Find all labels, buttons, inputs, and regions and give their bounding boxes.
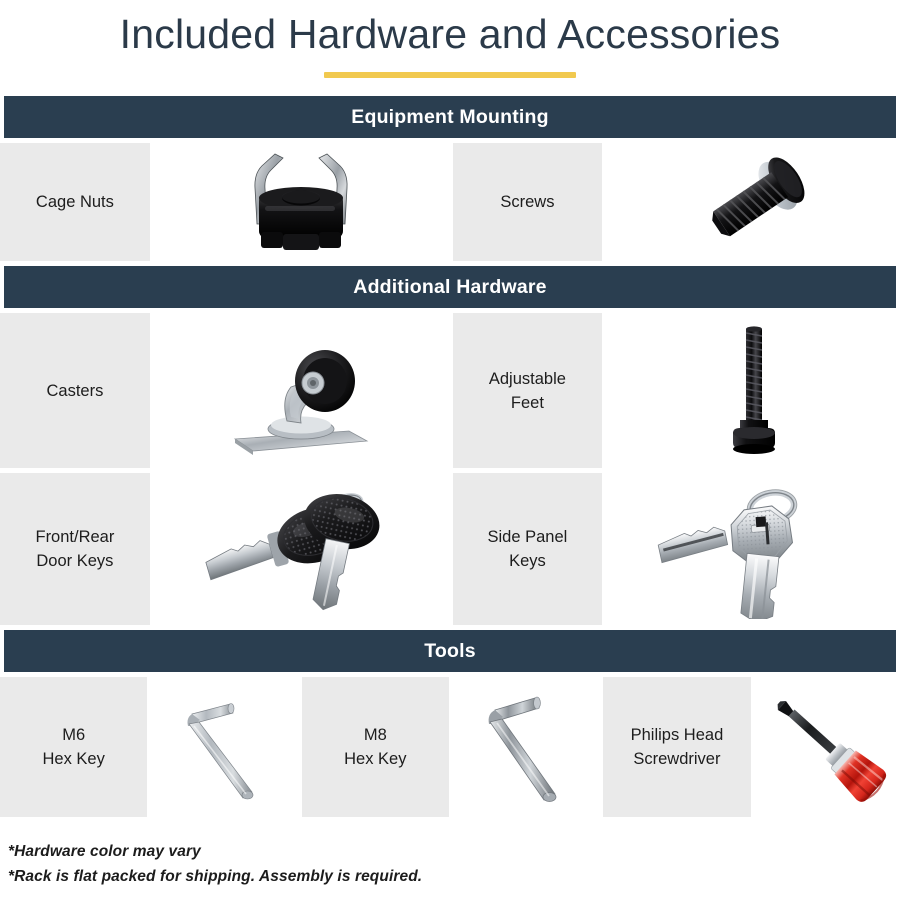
cell-image-m6-hex-key: [152, 677, 296, 817]
section-header-tools: Tools: [4, 630, 896, 672]
cell-label-adjustable-feet: Adjustable Feet: [453, 313, 603, 468]
label-line-2: Screwdriver: [633, 750, 720, 768]
cell-image-cage-nuts: [155, 143, 448, 261]
label-line-2: Keys: [509, 552, 546, 570]
title-accent-rule: [324, 72, 576, 78]
label-line-1: Side Panel: [488, 528, 568, 546]
cell-label-m8-hex-key: M8 Hex Key: [302, 677, 449, 817]
cell-image-side-panel-keys: [607, 473, 900, 625]
cage-nut-image: [231, 148, 371, 256]
hex-key-m8-image: [471, 686, 581, 808]
cell-label-m6-hex-key: M6 Hex Key: [0, 677, 147, 817]
cell-image-m8-hex-key: [454, 677, 598, 817]
cell-label-cage-nuts: Cage Nuts: [0, 143, 150, 261]
cell-image-casters: [155, 313, 448, 468]
philips-screwdriver-image: [758, 683, 898, 811]
cell-label-philips-head-screwdriver: Philips Head Screwdriver: [603, 677, 750, 817]
black-keys-image: [186, 479, 416, 619]
label-line-2: Hex Key: [344, 750, 406, 768]
label-text: M6 Hex Key: [43, 723, 105, 771]
adjustable-foot-image: [709, 323, 799, 458]
caster-image: [229, 321, 374, 461]
cell-label-casters: Casters: [0, 313, 150, 468]
cell-label-front-rear-door-keys: Front/Rear Door Keys: [0, 473, 150, 625]
footer-note-2: *Rack is flat packed for shipping. Assem…: [8, 864, 900, 889]
label-text: Adjustable Feet: [489, 367, 566, 415]
cell-image-adjustable-feet: [607, 313, 900, 468]
label-line-2: Hex Key: [43, 750, 105, 768]
cell-image-front-rear-door-keys: [155, 473, 448, 625]
cell-label-screws: Screws: [453, 143, 603, 261]
label-line-1: M6: [62, 726, 85, 744]
hex-key-m6-image: [170, 688, 280, 806]
label-text: Cage Nuts: [36, 190, 114, 214]
table-row-tools: M6 Hex Key: [0, 677, 900, 817]
section-header-equipment-mounting: Equipment Mounting: [4, 96, 896, 138]
footer-notes: *Hardware color may vary *Rack is flat p…: [0, 817, 900, 889]
footer-note-1: *Hardware color may vary: [8, 839, 900, 864]
page-header: Included Hardware and Accessories: [0, 0, 900, 96]
label-text: M8 Hex Key: [344, 723, 406, 771]
cell-image-screws: [607, 143, 900, 261]
label-line-1: Front/Rear: [35, 528, 114, 546]
silver-keys-image: [646, 479, 861, 619]
table-row-keys: Front/Rear Door Keys: [0, 473, 900, 625]
label-text: Front/Rear Door Keys: [35, 525, 114, 573]
section-header-additional-hardware: Additional Hardware: [4, 266, 896, 308]
label-line-1: M8: [364, 726, 387, 744]
label-line-2: Feet: [511, 394, 544, 412]
screw-image: [679, 147, 829, 257]
label-text: Casters: [46, 379, 103, 403]
cell-image-philips-head-screwdriver: [756, 677, 900, 817]
label-line-2: Door Keys: [36, 552, 113, 570]
label-text: Philips Head Screwdriver: [631, 723, 724, 771]
label-text: Screws: [500, 190, 554, 214]
table-row-casters: Casters: [0, 313, 900, 468]
cell-label-side-panel-keys: Side Panel Keys: [453, 473, 603, 625]
label-text: Side Panel Keys: [488, 525, 568, 573]
label-line-1: Philips Head: [631, 726, 724, 744]
label-line-1: Adjustable: [489, 370, 566, 388]
table-row-equipment-mounting: Cage Nuts: [0, 143, 900, 261]
page-title: Included Hardware and Accessories: [0, 8, 900, 60]
